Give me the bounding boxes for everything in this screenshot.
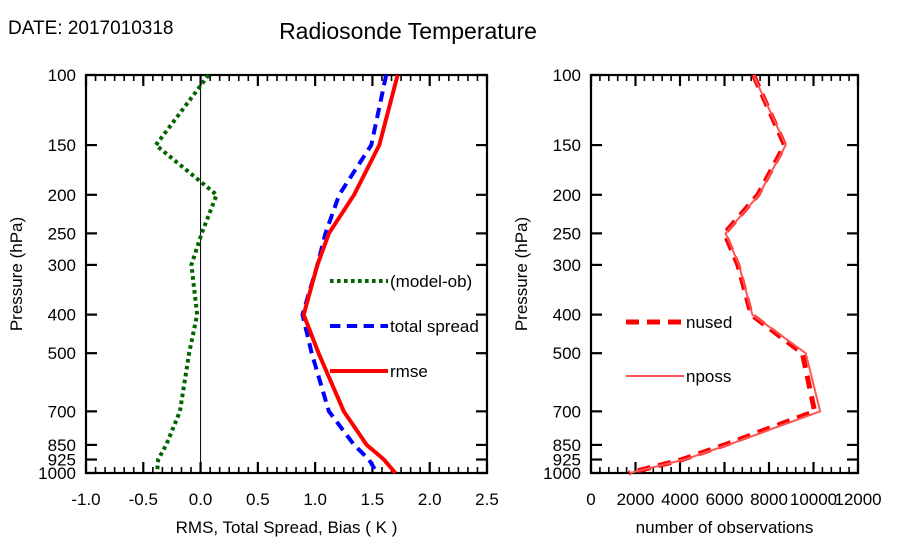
right-panel-xtick-label: 0 bbox=[586, 490, 595, 509]
left-panel-series-rmse bbox=[304, 75, 398, 473]
left-panel-xtick-label: -0.5 bbox=[129, 490, 158, 509]
left-panel-ytick-label: 150 bbox=[48, 136, 76, 155]
left-panel-legend: (model-ob)total spreadrmse bbox=[330, 272, 479, 381]
right-panel-xtick-label: 12000 bbox=[834, 490, 881, 509]
right-panel-xaxis-label: number of observations bbox=[636, 518, 814, 537]
right-panel-ytick-label: 100 bbox=[553, 66, 581, 85]
right-panel-frame bbox=[591, 75, 858, 473]
left-panel-xtick-label: 1.0 bbox=[303, 490, 327, 509]
left-panel-ytick-label: 200 bbox=[48, 186, 76, 205]
legend-label-nused: nused bbox=[686, 313, 732, 332]
left-panel-xtick-label: 0.5 bbox=[246, 490, 270, 509]
left-panel-ytick-label: 250 bbox=[48, 224, 76, 243]
right-panel-xtick-label: 6000 bbox=[706, 490, 744, 509]
left-panel-xtick-label: 2.0 bbox=[418, 490, 442, 509]
left-panel-xtick-label: 2.5 bbox=[475, 490, 499, 509]
right-panel-ytick-label: 300 bbox=[553, 256, 581, 275]
right-panel-ytick-label: 700 bbox=[553, 402, 581, 421]
left-panel-ytick-label: 700 bbox=[48, 402, 76, 421]
right-panel-ytick-label: 1000 bbox=[543, 464, 581, 483]
right-panel-ytick-label: 400 bbox=[553, 306, 581, 325]
right-panel-xtick-label: 10000 bbox=[790, 490, 837, 509]
right-panel-ytick-label: 150 bbox=[553, 136, 581, 155]
left-panel-xaxis-label: RMS, Total Spread, Bias ( K ) bbox=[176, 518, 398, 537]
left-panel-xtick-label: -1.0 bbox=[71, 490, 100, 509]
left-panel-yaxis-label: Pressure (hPa) bbox=[7, 217, 26, 331]
left-panel-ytick-label: 400 bbox=[48, 306, 76, 325]
legend-label-rmse: rmse bbox=[390, 362, 428, 381]
right-panel-ytick-label: 250 bbox=[553, 224, 581, 243]
left-panel-xtick-label: 1.5 bbox=[361, 490, 385, 509]
right-panel-yaxis-label: Pressure (hPa) bbox=[512, 217, 531, 331]
right-panel-xtick-label: 2000 bbox=[617, 490, 655, 509]
right-panel-ytick-label: 200 bbox=[553, 186, 581, 205]
right-panel-ytick-label: 500 bbox=[553, 344, 581, 363]
legend-label-totalspread: total spread bbox=[390, 317, 479, 336]
left-panel-ytick-label: 100 bbox=[48, 66, 76, 85]
left-panel-series-modelob bbox=[156, 75, 217, 473]
left-panel-ytick-label: 500 bbox=[48, 344, 76, 363]
left-panel-ytick-label: 300 bbox=[48, 256, 76, 275]
right-panel-legend: nusednposs bbox=[626, 313, 732, 386]
right-panel-xtick-label: 4000 bbox=[661, 490, 699, 509]
right-panel-series-nused bbox=[629, 75, 815, 473]
legend-label-nposs: nposs bbox=[686, 367, 731, 386]
left-panel: -1.0-0.50.00.51.01.52.02.510015020025030… bbox=[7, 66, 499, 537]
left-panel-ytick-label: 1000 bbox=[38, 464, 76, 483]
right-panel-series-nposs bbox=[630, 75, 820, 473]
right-panel: 0200040006000800010000120001001502002503… bbox=[512, 66, 882, 537]
left-panel-xtick-label: 0.0 bbox=[189, 490, 213, 509]
radiosonde-temperature-figure: -1.0-0.50.00.51.01.52.02.510015020025030… bbox=[0, 0, 900, 560]
right-panel-xtick-label: 8000 bbox=[750, 490, 788, 509]
legend-label-modelob: (model-ob) bbox=[390, 272, 472, 291]
